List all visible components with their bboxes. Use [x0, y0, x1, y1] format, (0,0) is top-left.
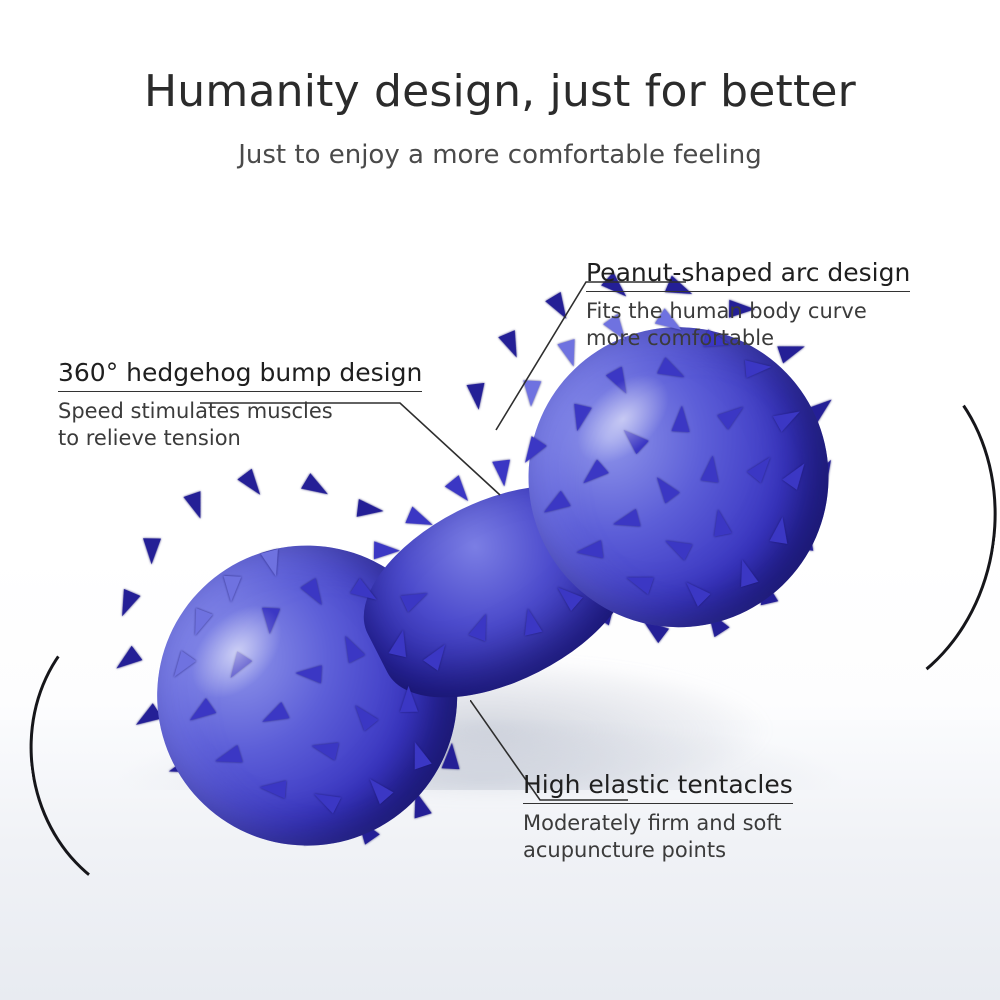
callout-tentacles: High elastic tentacles Moderately firm a…: [523, 770, 793, 864]
callout-tentacles-desc: Moderately firm and soft acupuncture poi…: [523, 810, 793, 864]
callout-hedgehog: 360° hedgehog bump design Speed stimulat…: [58, 358, 422, 452]
callout-hedgehog-desc: Speed stimulates muscles to relieve tens…: [58, 398, 422, 452]
page-title: Humanity design, just for better: [0, 68, 1000, 116]
callout-hedgehog-title: 360° hedgehog bump design: [58, 358, 422, 392]
page-subtitle: Just to enjoy a more comfortable feeling: [0, 140, 1000, 170]
product-infographic: Humanity design, just for better Just to…: [0, 0, 1000, 1000]
callout-peanut-desc: Fits the human body curve more comfortab…: [586, 298, 910, 352]
callout-tentacles-title: High elastic tentacles: [523, 770, 793, 804]
callout-peanut: Peanut-shaped arc design Fits the human …: [586, 258, 910, 352]
callout-peanut-title: Peanut-shaped arc design: [586, 258, 910, 292]
